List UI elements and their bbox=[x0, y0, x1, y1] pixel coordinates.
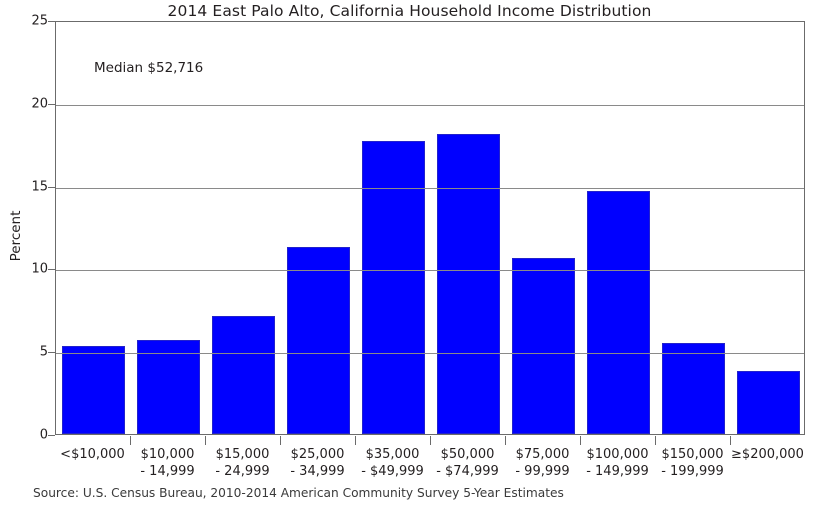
x-tick-mark bbox=[505, 436, 506, 445]
y-tick-label: 20 bbox=[6, 96, 48, 111]
y-tick-label: 10 bbox=[6, 262, 48, 277]
x-tick-mark bbox=[205, 436, 206, 445]
x-tick-mark bbox=[130, 436, 131, 445]
x-tick-mark bbox=[430, 436, 431, 445]
x-tick-label: $75,000- 99,999 bbox=[505, 446, 580, 480]
x-tick-label: $50,000- $74,999 bbox=[430, 446, 505, 480]
x-tick-label-line2: - 14,999 bbox=[130, 463, 205, 480]
x-tick-mark bbox=[355, 436, 356, 445]
x-tick-label-line1: $150,000 bbox=[661, 447, 723, 462]
gridline-y-15 bbox=[56, 188, 804, 189]
y-tick-label: 0 bbox=[6, 428, 48, 443]
x-tick-label-line1: $100,000 bbox=[586, 447, 648, 462]
x-tick-label: $15,000- 24,999 bbox=[205, 446, 280, 480]
bar bbox=[437, 134, 500, 434]
y-axis: Percent 0510152025 bbox=[0, 0, 48, 512]
x-tick-label-line1: $35,000 bbox=[366, 447, 420, 462]
x-tick-label: $35,000- $49,999 bbox=[355, 446, 430, 480]
bar bbox=[212, 316, 275, 434]
chart-title: 2014 East Palo Alto, California Househol… bbox=[0, 2, 819, 20]
x-tick-label: $10,000- 14,999 bbox=[130, 446, 205, 480]
y-tick-label: 15 bbox=[6, 179, 48, 194]
x-tick-label-line2: - 199,999 bbox=[655, 463, 730, 480]
y-tick-mark bbox=[48, 352, 55, 353]
bar bbox=[737, 371, 800, 434]
x-tick-label-line1: $15,000 bbox=[216, 447, 270, 462]
y-tick-mark bbox=[48, 269, 55, 270]
x-tick-mark bbox=[730, 436, 731, 445]
x-tick-label-line2: - 99,999 bbox=[505, 463, 580, 480]
x-tick-label-line2: - $74,999 bbox=[430, 463, 505, 480]
gridline-y-5 bbox=[56, 353, 804, 354]
bar bbox=[287, 247, 350, 434]
x-tick-label-line2: - 149,999 bbox=[580, 463, 655, 480]
x-tick-label-line1: $25,000 bbox=[291, 447, 345, 462]
source-note: Source: U.S. Census Bureau, 2010-2014 Am… bbox=[33, 486, 564, 500]
x-tick-label-line2: - 24,999 bbox=[205, 463, 280, 480]
bar bbox=[662, 343, 725, 434]
x-tick-label: ≥$200,000 bbox=[730, 446, 805, 463]
x-tick-mark bbox=[655, 436, 656, 445]
x-tick-label-line1: <$10,000 bbox=[60, 447, 125, 462]
x-tick-label-line1: ≥$200,000 bbox=[731, 447, 804, 462]
y-tick-mark bbox=[48, 435, 55, 436]
y-tick-mark bbox=[48, 21, 55, 22]
x-tick-label: <$10,000 bbox=[55, 446, 130, 463]
y-tick-mark bbox=[48, 187, 55, 188]
x-tick-mark bbox=[580, 436, 581, 445]
x-tick-label: $25,000- 34,999 bbox=[280, 446, 355, 480]
x-tick-label: $100,000- 149,999 bbox=[580, 446, 655, 480]
x-tick-mark bbox=[280, 436, 281, 445]
median-annotation: Median $52,716 bbox=[94, 60, 203, 76]
x-tick-label-line2: - 34,999 bbox=[280, 463, 355, 480]
x-tick-label-line1: $75,000 bbox=[516, 447, 570, 462]
income-distribution-chart: 2014 East Palo Alto, California Househol… bbox=[0, 0, 819, 512]
y-tick-label: 5 bbox=[6, 345, 48, 360]
bar bbox=[587, 191, 650, 434]
bar bbox=[512, 258, 575, 434]
x-tick-label-line1: $10,000 bbox=[141, 447, 195, 462]
gridline-y-20 bbox=[56, 105, 804, 106]
y-tick-label: 25 bbox=[6, 14, 48, 29]
bars-layer bbox=[56, 22, 804, 434]
y-tick-mark bbox=[48, 104, 55, 105]
x-tick-label: $150,000- 199,999 bbox=[655, 446, 730, 480]
x-tick-label-line1: $50,000 bbox=[441, 447, 495, 462]
bar bbox=[62, 346, 125, 434]
x-tick-label-line2: - $49,999 bbox=[355, 463, 430, 480]
bar bbox=[362, 141, 425, 434]
gridline-y-10 bbox=[56, 270, 804, 271]
plot-area bbox=[55, 21, 805, 435]
